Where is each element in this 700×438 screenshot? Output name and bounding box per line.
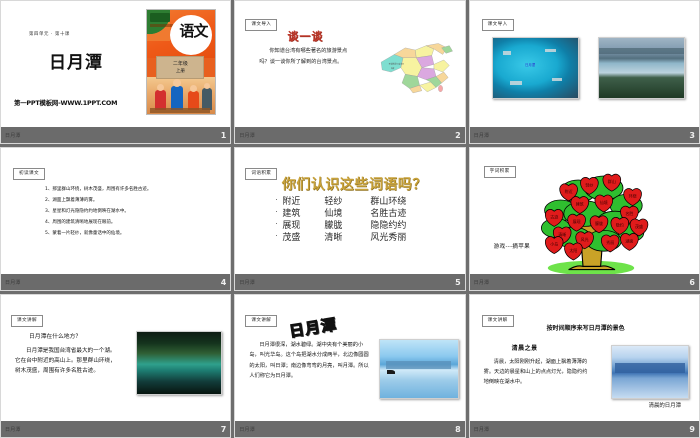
book-subject-label: 语文: [179, 20, 207, 41]
slide-card-4[interactable]: 初读课文 1、那里群山环绕，树木茂盛，周围有许多名胜古迹。 2、湖面上飘着薄薄的…: [0, 147, 231, 291]
slide-card-3[interactable]: 课文导入 日月潭 日月潭 3: [469, 0, 700, 144]
page-number-6: 6: [689, 278, 695, 287]
list-item: 1、那里群山环绕，树木茂盛，周围有许多名胜古迹。: [45, 184, 175, 195]
page-number-9: 9: [689, 425, 695, 434]
footer-label-5: 日月潭: [239, 279, 255, 286]
slide-card-7[interactable]: 课文讲解 日月潭在什么地方？ 日月潭是我国台湾省最大的一个湖。它在台中附近的高山…: [0, 294, 231, 438]
svg-text:朦胧: 朦胧: [595, 220, 603, 226]
svg-text:名胜: 名胜: [625, 210, 633, 216]
sun-moon-lake-aerial-image: [598, 37, 685, 99]
slide-card-5[interactable]: 词语积累 你们认识这些词语吗？ · 附近 轻纱 群山环绕 · 建筑 仙境 名胜古…: [234, 147, 465, 291]
page-number-1: 1: [221, 131, 227, 140]
svg-text:轻纱: 轻纱: [585, 181, 593, 187]
sun-moon-lake-photo-image: [136, 331, 222, 395]
footer-label-2: 日月潭: [239, 132, 255, 139]
bullet-icon: ·: [275, 196, 282, 208]
slide1-watermark: 第一PPT模板网-WWW.1PPT.COM: [14, 98, 117, 107]
svg-text:古迹: 古迹: [550, 213, 558, 219]
footer-label-7: 日月潭: [5, 426, 21, 433]
svg-text:隐约: 隐约: [615, 221, 623, 227]
slide7-question: 日月潭在什么地方？: [29, 331, 81, 340]
slide2-heading: 谈一谈: [287, 28, 323, 44]
slide-footer-5: 日月潭 5: [235, 274, 464, 290]
slide-canvas-9: 课文讲解 按时间顺序来写日月潭的景色 清晨之景 清晨，太阳刚刚升起，湖面上飘着薄…: [470, 295, 699, 421]
svg-text:环绕: 环绕: [628, 193, 636, 199]
svg-text:太阳: 太阳: [569, 247, 577, 253]
slide-thumbnail-grid: 第四单元 · 第十课 日月潭 第一PPT模板网-WWW.1PPT.COM 语文 …: [0, 0, 700, 438]
slide-canvas-6: 字词积累 附近 轻纱 群山 环绕 建筑 仙境: [470, 148, 699, 274]
slide8-title: 日月潭: [288, 313, 339, 341]
book-grade-label: 二年级: [173, 60, 188, 67]
lake-reflection-photo-image: [379, 339, 459, 399]
slide4-sentence-list: 1、那里群山环绕，树木茂盛，周围有许多名胜古迹。 2、湖面上飘着薄薄的雾。 3、…: [45, 184, 175, 239]
svg-text:建筑: 建筑: [575, 201, 583, 207]
china-map-image: 新疆维吾尔自治区 西藏: [369, 35, 457, 97]
slide9-subheading: 清晨之景: [512, 343, 538, 352]
footer-label-8: 日月潭: [239, 426, 255, 433]
page-number-3: 3: [689, 131, 695, 140]
footer-label-3: 日月潭: [474, 132, 490, 139]
word-row: · 建筑 仙境 名胜古迹: [275, 208, 435, 220]
morning-lake-photo-image: [611, 345, 689, 399]
word-row: · 展现 朦胧 隐隐约约: [275, 220, 435, 232]
book-volume-label: 上册: [176, 68, 185, 74]
slide9-image-caption: 清晨的日月潭: [649, 401, 681, 409]
slide-card-6[interactable]: 字词积累 附近 轻纱 群山 环绕 建筑 仙境: [469, 147, 700, 291]
slide1-subtitle: 第四单元 · 第十课: [29, 31, 70, 37]
slide-canvas-1: 第四单元 · 第十课 日月潭 第一PPT模板网-WWW.1PPT.COM 语文 …: [1, 1, 230, 127]
slide-footer-6: 日月潭 6: [470, 274, 699, 290]
slide2-section-chip: 课文导入: [245, 19, 277, 31]
page-number-2: 2: [455, 131, 461, 140]
slide-canvas-4: 初读课文 1、那里群山环绕，树木茂盛，周围有许多名胜古迹。 2、湖面上飘着薄薄的…: [1, 148, 230, 274]
slide-canvas-3: 课文导入 日月潭: [470, 1, 699, 127]
slide-card-2[interactable]: 课文导入 谈一谈 你知道台湾有哪些著名的旅游景点吗？谈一谈你所了解到的台湾景点。: [234, 0, 465, 144]
footer-label-6: 日月潭: [474, 279, 490, 286]
slide1-title: 日月潭: [18, 48, 134, 73]
footer-label-4: 日月潭: [5, 279, 21, 286]
list-item: 4、周围的建筑清晰地展现在眼前。: [45, 217, 175, 228]
textbook-cover-image: 语文 二年级 上册: [146, 9, 216, 115]
slide5-heading: 你们认识这些词语吗？: [249, 174, 459, 194]
word-row: · 茂盛 清晰 风光秀丽: [275, 232, 435, 244]
svg-text:清晰: 清晰: [558, 231, 566, 237]
page-number-5: 5: [455, 278, 461, 287]
slide3-section-chip: 课文导入: [482, 19, 514, 31]
slide-footer-1: 日月潭 1: [1, 127, 230, 143]
svg-text:秀丽: 秀丽: [606, 239, 614, 245]
svg-text:湖面: 湖面: [625, 237, 633, 243]
bullet-icon: ·: [275, 232, 282, 244]
svg-text:风光: 风光: [580, 236, 588, 242]
svg-text:小岛: 小岛: [550, 241, 558, 247]
slide-footer-3: 日月潭 3: [470, 127, 699, 143]
list-item: 2、湖面上飘着薄薄的雾。: [45, 195, 175, 206]
slide-canvas-2: 课文导入 谈一谈 你知道台湾有哪些著名的旅游景点吗？谈一谈你所了解到的台湾景点。: [235, 1, 464, 127]
slide-footer-4: 日月潭 4: [1, 274, 230, 290]
apple-tree-image: 附近 轻纱 群山 环绕 建筑 仙境 名胜 古迹 展现 朦胧 隐约 茂盛 清晰 风…: [526, 164, 656, 274]
footer-label-1: 日月潭: [5, 132, 21, 139]
list-item: 5、蒙着一片轻纱，就像童话中的仙境。: [45, 228, 175, 239]
slide-footer-8: 日月潭 8: [235, 421, 464, 437]
slide-canvas-7: 课文讲解 日月潭在什么地方？ 日月潭是我国台湾省最大的一个湖。它在台中附近的高山…: [1, 295, 230, 421]
slide4-section-chip: 初读课文: [13, 168, 45, 180]
slide9-body: 清晨，太阳刚刚升起，湖面上飘着薄薄的雾。天边的晨星和山上的点点灯光，隐隐约约地倒…: [484, 357, 588, 387]
slide-footer-2: 日月潭 2: [235, 127, 464, 143]
slide8-section-chip: 课文讲解: [245, 315, 277, 327]
bullet-icon: ·: [275, 208, 282, 220]
slide9-heading: 按时间顺序来写日月潭的景色: [484, 323, 688, 332]
slide5-word-table: · 附近 轻纱 群山环绕 · 建筑 仙境 名胜古迹 · 展现 朦胧 隐隐约约: [275, 196, 435, 245]
svg-text:仙境: 仙境: [599, 199, 607, 205]
slide-card-1[interactable]: 第四单元 · 第十课 日月潭 第一PPT模板网-WWW.1PPT.COM 语文 …: [0, 0, 231, 144]
slide7-body: 日月潭是我国台湾省最大的一个湖。它在台中附近的高山上。那里群山环绕，树木茂盛，周…: [15, 347, 117, 376]
sun-moon-lake-satellite-image: 日月潭: [492, 37, 579, 99]
svg-text:茂盛: 茂盛: [635, 223, 643, 229]
svg-text:群山: 群山: [607, 178, 615, 184]
slide2-body: 你知道台湾有哪些著名的旅游景点吗？谈一谈你所了解到的台湾景点。: [259, 46, 354, 67]
slide-card-9[interactable]: 课文讲解 按时间顺序来写日月潭的景色 清晨之景 清晨，太阳刚刚升起，湖面上飘着薄…: [469, 294, 700, 438]
page-number-7: 7: [221, 425, 227, 434]
slide6-game-caption: 游戏---摘苹果: [494, 242, 530, 250]
slide7-section-chip: 课文讲解: [11, 315, 43, 327]
slide-canvas-8: 课文讲解 日月潭 日月潭很深，湖水碧绿。湖中央有个美丽的小岛，叫光华岛。这个岛把…: [235, 295, 464, 421]
slide-canvas-5: 词语积累 你们认识这些词语吗？ · 附近 轻纱 群山环绕 · 建筑 仙境 名胜古…: [235, 148, 464, 274]
page-number-4: 4: [221, 278, 227, 287]
slide-card-8[interactable]: 课文讲解 日月潭 日月潭很深，湖水碧绿。湖中央有个美丽的小岛，叫光华岛。这个岛把…: [234, 294, 465, 438]
bullet-icon: ·: [275, 220, 282, 232]
svg-text:附近: 附近: [564, 188, 572, 194]
slide-footer-9: 日月潭 9: [470, 421, 699, 437]
word-row: · 附近 轻纱 群山环绕: [275, 196, 435, 208]
page-number-8: 8: [455, 425, 461, 434]
slide-footer-7: 日月潭 7: [1, 421, 230, 437]
svg-text:展现: 展现: [572, 218, 580, 224]
slide6-section-chip: 字词积累: [484, 166, 516, 178]
list-item: 3、星星和灯光隐隐约约地倒映在湖水中。: [45, 206, 175, 217]
slide8-body: 日月潭很深，湖水碧绿。湖中央有个美丽的小岛，叫光华岛。这个岛把湖水分成两半，北边…: [249, 340, 369, 382]
footer-label-9: 日月潭: [474, 426, 490, 433]
